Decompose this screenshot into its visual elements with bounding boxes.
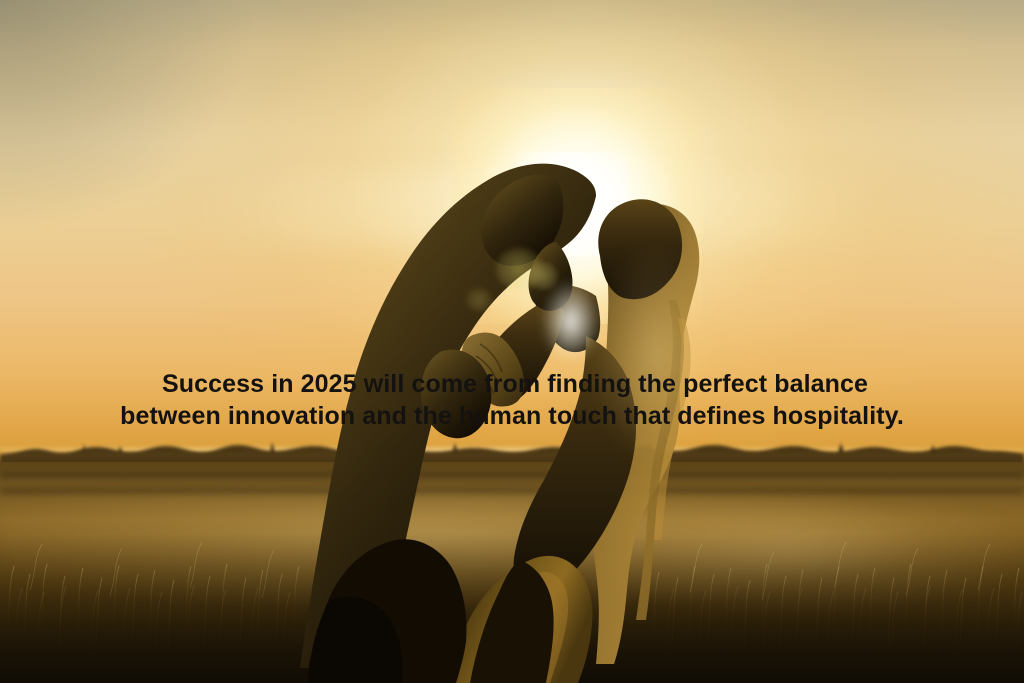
- couple-silhouette-group: [0, 0, 1024, 683]
- lens-flare: [528, 262, 558, 290]
- man-silhouette: [0, 0, 1024, 683]
- photo-canvas: Success in 2025 will come from finding t…: [0, 0, 1024, 683]
- lens-flare: [466, 288, 492, 312]
- caption-line-1: Success in 2025 will come from finding t…: [0, 368, 1024, 400]
- caption-line-2: between innovation and the human touch t…: [0, 400, 1024, 432]
- caption-overlay: Success in 2025 will come from finding t…: [0, 368, 1024, 432]
